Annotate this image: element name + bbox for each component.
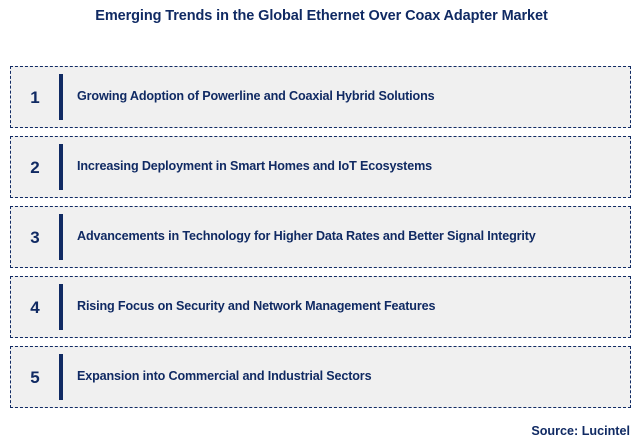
trend-rank-number: 1 <box>11 89 59 106</box>
source-attribution: Source: Lucintel <box>531 424 630 438</box>
trend-item-2: 2 Increasing Deployment in Smart Homes a… <box>10 136 631 198</box>
trend-label: Increasing Deployment in Smart Homes and… <box>63 159 432 174</box>
trend-rank-number: 3 <box>11 229 59 246</box>
trend-item-1: 1 Growing Adoption of Powerline and Coax… <box>10 66 631 128</box>
infographic-page: Emerging Trends in the Global Ethernet O… <box>0 0 643 446</box>
trend-label: Advancements in Technology for Higher Da… <box>63 229 536 244</box>
page-title: Emerging Trends in the Global Ethernet O… <box>0 8 643 24</box>
trend-label: Rising Focus on Security and Network Man… <box>63 299 435 314</box>
trend-rank-number: 2 <box>11 159 59 176</box>
trend-item-5: 5 Expansion into Commercial and Industri… <box>10 346 631 408</box>
trend-item-3: 3 Advancements in Technology for Higher … <box>10 206 631 268</box>
trend-item-4: 4 Rising Focus on Security and Network M… <box>10 276 631 338</box>
trend-label: Expansion into Commercial and Industrial… <box>63 369 371 384</box>
trend-rank-number: 4 <box>11 299 59 316</box>
trend-label: Growing Adoption of Powerline and Coaxia… <box>63 89 434 104</box>
trend-rank-number: 5 <box>11 369 59 386</box>
trends-list: 1 Growing Adoption of Powerline and Coax… <box>10 66 631 408</box>
